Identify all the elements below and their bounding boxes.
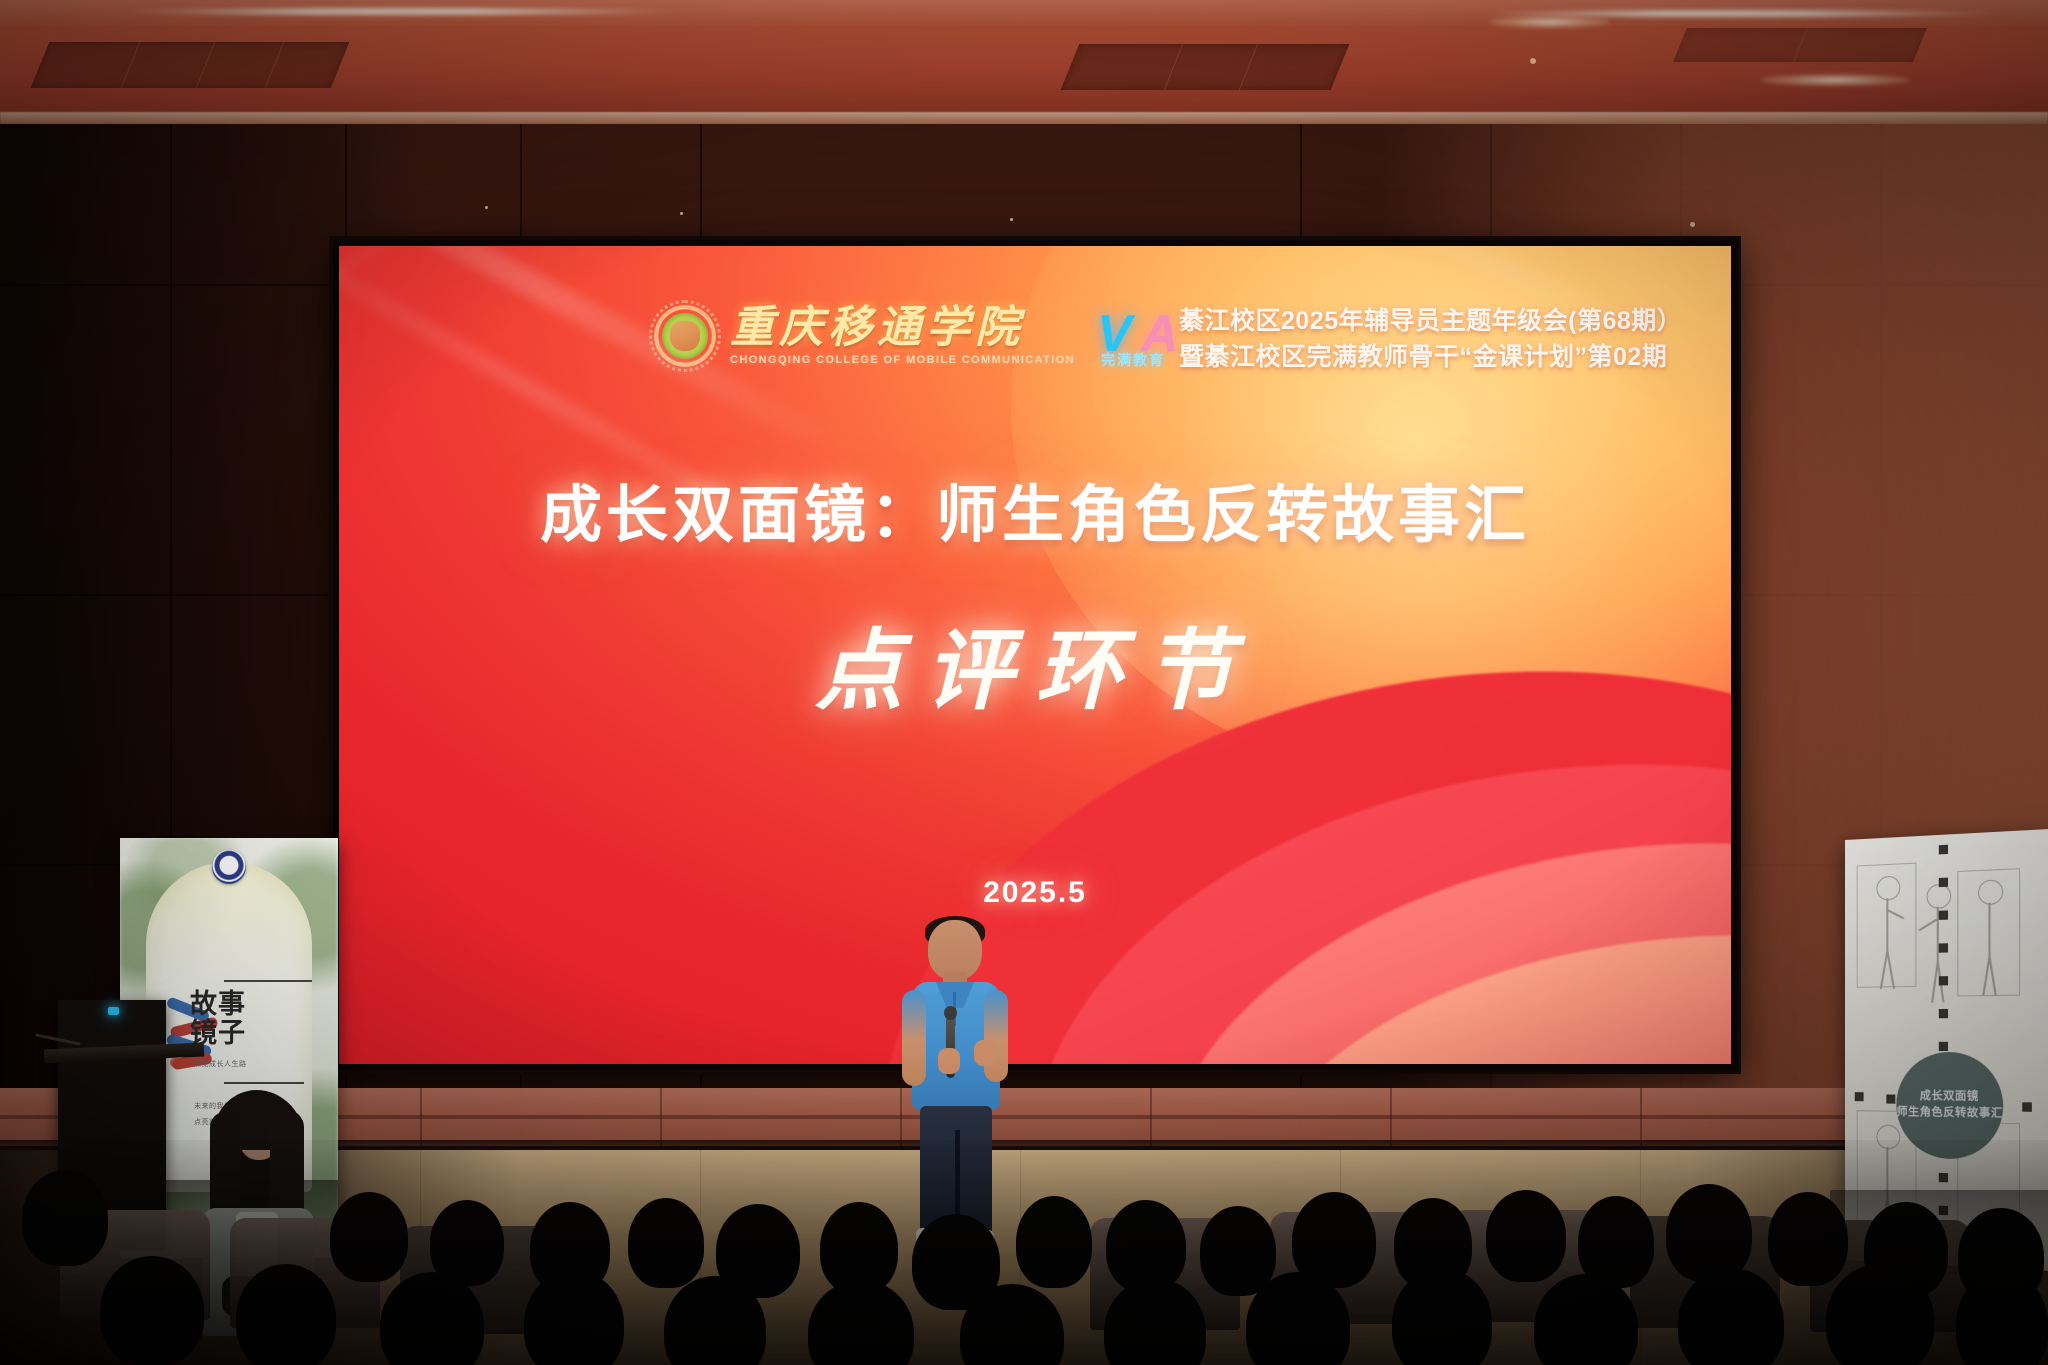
podium-led-indicator <box>108 1007 119 1015</box>
school-name-cn: 重庆移通学院 <box>730 306 1075 350</box>
slide-canvas: 重庆移通学院 CHONGQING COLLEGE OF MOBILE COMMU… <box>339 246 1731 1064</box>
slide-date: 2025.5 <box>339 876 1731 910</box>
school-emblem-icon <box>212 850 246 884</box>
standee-tagline: 照见成长人生路 <box>194 1060 312 1071</box>
podium-red-object <box>170 1058 196 1067</box>
presenter-head <box>928 920 982 980</box>
ceiling <box>0 0 2048 128</box>
standee-right-line1: 成长双面镜 <box>1920 1089 1979 1106</box>
slide-brand: 重庆移通学院 CHONGQING COLLEGE OF MOBILE COMMU… <box>654 304 1193 368</box>
standee-title: 故事 镜子 <box>190 990 320 1048</box>
slide-subtitle: 点评环节 <box>339 600 1731 727</box>
air-vent-icon <box>1673 28 1927 62</box>
standee-right-line2: 师生角色反转故事汇 <box>1897 1105 2003 1123</box>
ceiling-gloss-left <box>120 8 680 15</box>
school-crest-icon <box>654 305 716 367</box>
slide-title: 成长双面镜：师生角色反转故事汇 <box>339 464 1731 554</box>
meeting-headline: 綦江校区2025年辅导员主题年级会(第68期） 暨綦江校区完满教师骨干“金课计划… <box>1179 304 1699 375</box>
seated-audience-silhouettes <box>0 1140 2048 1365</box>
va-logo-sub: 完满教育 <box>1101 350 1165 370</box>
ceiling-downlight-icon <box>1490 16 1610 28</box>
standee-title-line1: 故事 <box>190 989 246 1019</box>
meeting-line-2: 暨綦江校区完满教师骨干“金课计划”第02期 <box>1179 340 1699 376</box>
led-screen: 重庆移通学院 CHONGQING COLLEGE OF MOBILE COMMU… <box>333 240 1737 1070</box>
air-vent-icon <box>31 42 350 88</box>
ceiling-downlight-icon <box>1760 74 1910 86</box>
screenshot-root: 重庆移通学院 CHONGQING COLLEGE OF MOBILE COMMU… <box>0 0 2048 1365</box>
air-vent-icon <box>1061 44 1350 90</box>
school-name-en: CHONGQING COLLEGE OF MOBILE COMMUNICATIO… <box>730 354 1075 366</box>
meeting-line-1: 綦江校区2025年辅导员主题年级会(第68期） <box>1179 304 1699 340</box>
